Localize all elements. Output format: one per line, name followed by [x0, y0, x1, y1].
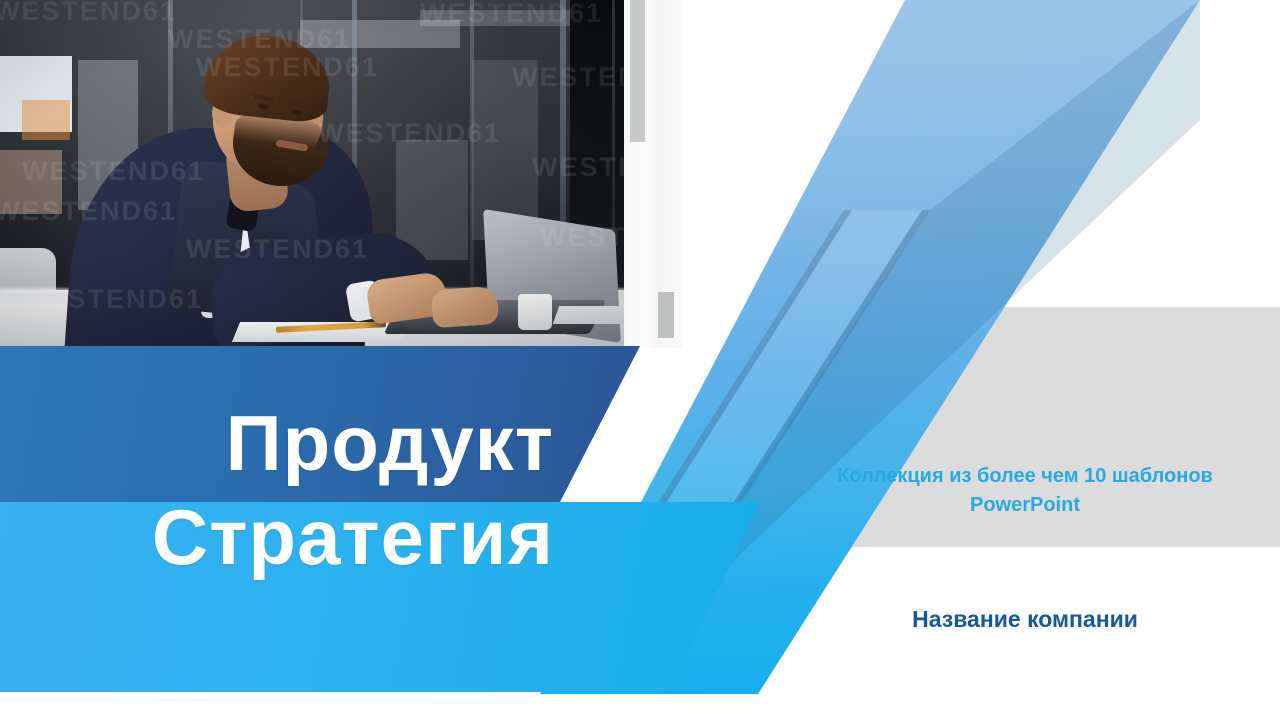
- presentation-title-slide: WESTEND61 WESTEND61 WESTEND61 WESTEND61 …: [0, 0, 1280, 720]
- photo-vignette: [0, 0, 682, 348]
- strip-bar: [630, 0, 645, 142]
- title-band-dark: [0, 346, 640, 502]
- title-band-light: [0, 502, 760, 692]
- slide-subtitle: Коллекция из более чем 10 шаблонов Power…: [790, 462, 1260, 520]
- strip-bar: [658, 292, 674, 338]
- photo-right-edge-strip: [624, 0, 682, 348]
- company-name-placeholder: Название компании: [790, 605, 1260, 635]
- hero-photo: WESTEND61 WESTEND61 WESTEND61 WESTEND61 …: [0, 0, 682, 348]
